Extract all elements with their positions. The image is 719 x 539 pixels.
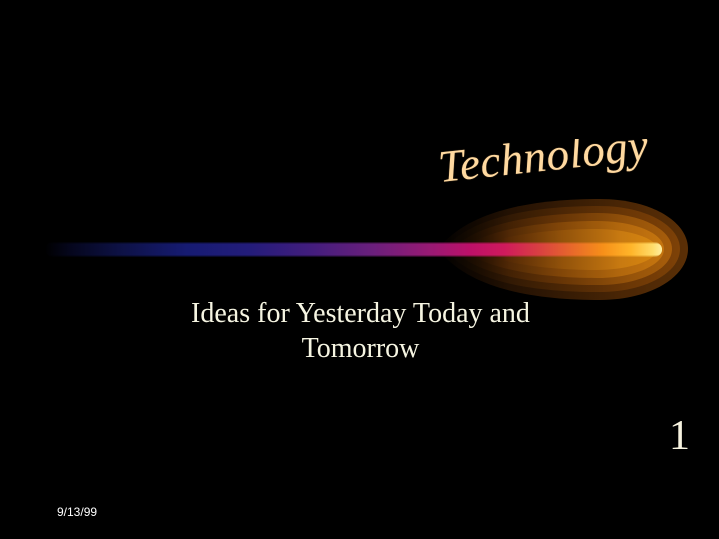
page-title: Technology (437, 139, 651, 190)
title-clip-region: Technology (437, 139, 719, 209)
slide-date: 9/13/99 (57, 506, 97, 518)
comet-graphic (0, 0, 719, 539)
page-number: 1 (600, 415, 690, 457)
comet-halo (438, 199, 688, 300)
slide-canvas: Technology Ideas for Yesterday Today and… (0, 0, 719, 539)
page-subtitle: Ideas for Yesterday Today and Tomorrow (108, 296, 613, 366)
comet-beam (45, 242, 662, 257)
